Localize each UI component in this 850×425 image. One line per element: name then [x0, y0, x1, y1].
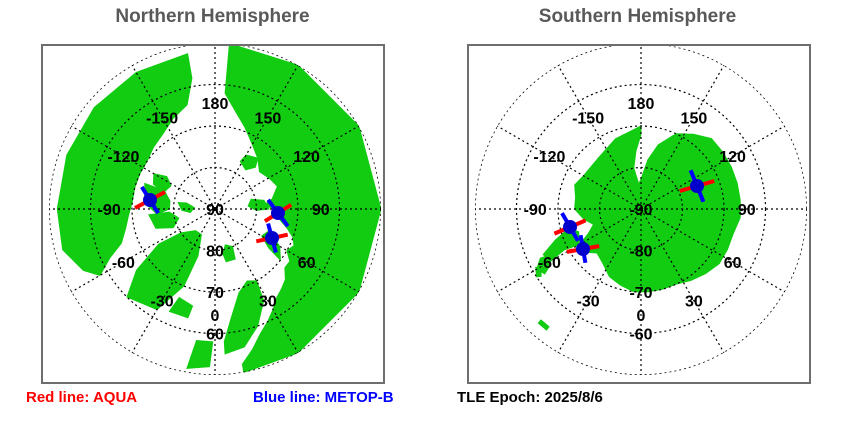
lon-tick-label: -60 — [538, 255, 561, 272]
lon-tick-label: 30 — [685, 294, 703, 311]
lon-tick-label: -150 — [146, 110, 178, 127]
satellite-position-dot — [265, 231, 279, 245]
lon-tick-label: 150 — [681, 110, 708, 127]
lon-tick-label: 90 — [738, 202, 756, 219]
lon-tick-label: 0 — [211, 308, 220, 325]
lon-tick-label: 120 — [293, 149, 320, 166]
northern-hemisphere-title: Northern Hemisphere — [0, 6, 425, 28]
lat-tick-label: 90 — [206, 202, 224, 219]
satellite-position-dot — [690, 179, 704, 193]
lon-tick-label: -60 — [112, 255, 135, 272]
figure-root: Northern Hemisphere 0306090120150180-150… — [0, 0, 850, 425]
lon-tick-label: -120 — [533, 149, 565, 166]
satellite-position-dot — [271, 206, 285, 220]
lon-tick-label: 180 — [202, 96, 229, 113]
southern-map-svg: 0306090120150180-150-120-90-60-30-90-80-… — [469, 46, 809, 382]
legend-red-line-aqua: Red line: AQUA — [26, 389, 137, 406]
lat-tick-label: -60 — [629, 327, 652, 344]
lon-tick-label: -120 — [107, 149, 139, 166]
legend-blue-line-metopb: Blue line: METOP-B — [253, 389, 394, 406]
lon-tick-label: 0 — [637, 308, 646, 325]
panel-northern-hemisphere: Northern Hemisphere 0306090120150180-150… — [0, 0, 425, 425]
southern-hemisphere-title: Southern Hemisphere — [425, 6, 850, 28]
lon-tick-label: 30 — [259, 294, 277, 311]
legend-tle-epoch: TLE Epoch: 2025/8/6 — [457, 389, 603, 406]
lat-tick-label: -80 — [629, 244, 652, 261]
panel-southern-hemisphere: Southern Hemisphere 0306090120150180-150… — [425, 0, 850, 425]
lon-tick-label: -90 — [98, 202, 121, 219]
lon-tick-label: -30 — [577, 294, 600, 311]
lon-tick-label: 120 — [719, 149, 746, 166]
lat-tick-label: -70 — [629, 285, 652, 302]
lon-tick-label: 150 — [255, 110, 282, 127]
lon-tick-label: -30 — [151, 294, 174, 311]
northern-map-svg: 0306090120150180-150-120-90-60-309080706… — [43, 46, 383, 382]
lat-tick-label: 80 — [206, 244, 224, 261]
southern-plot-frame: 0306090120150180-150-120-90-60-30-90-80-… — [467, 44, 811, 384]
lon-tick-label: 60 — [724, 255, 742, 272]
satellite-position-dot — [563, 220, 577, 234]
lon-tick-label: 180 — [628, 96, 655, 113]
lon-tick-label: -150 — [572, 110, 604, 127]
northern-plot-frame: 0306090120150180-150-120-90-60-309080706… — [41, 44, 385, 384]
lon-tick-label: 90 — [312, 202, 330, 219]
lat-tick-label: -90 — [629, 202, 652, 219]
satellite-position-dot — [576, 242, 590, 256]
legend-bar: Red line: AQUA Blue line: METOP-B TLE Ep… — [0, 389, 850, 425]
lon-tick-label: 60 — [298, 255, 316, 272]
lon-tick-label: -90 — [524, 202, 547, 219]
satellite-position-dot — [143, 193, 157, 207]
lat-tick-label: 70 — [206, 285, 224, 302]
lat-tick-label: 60 — [206, 327, 224, 344]
